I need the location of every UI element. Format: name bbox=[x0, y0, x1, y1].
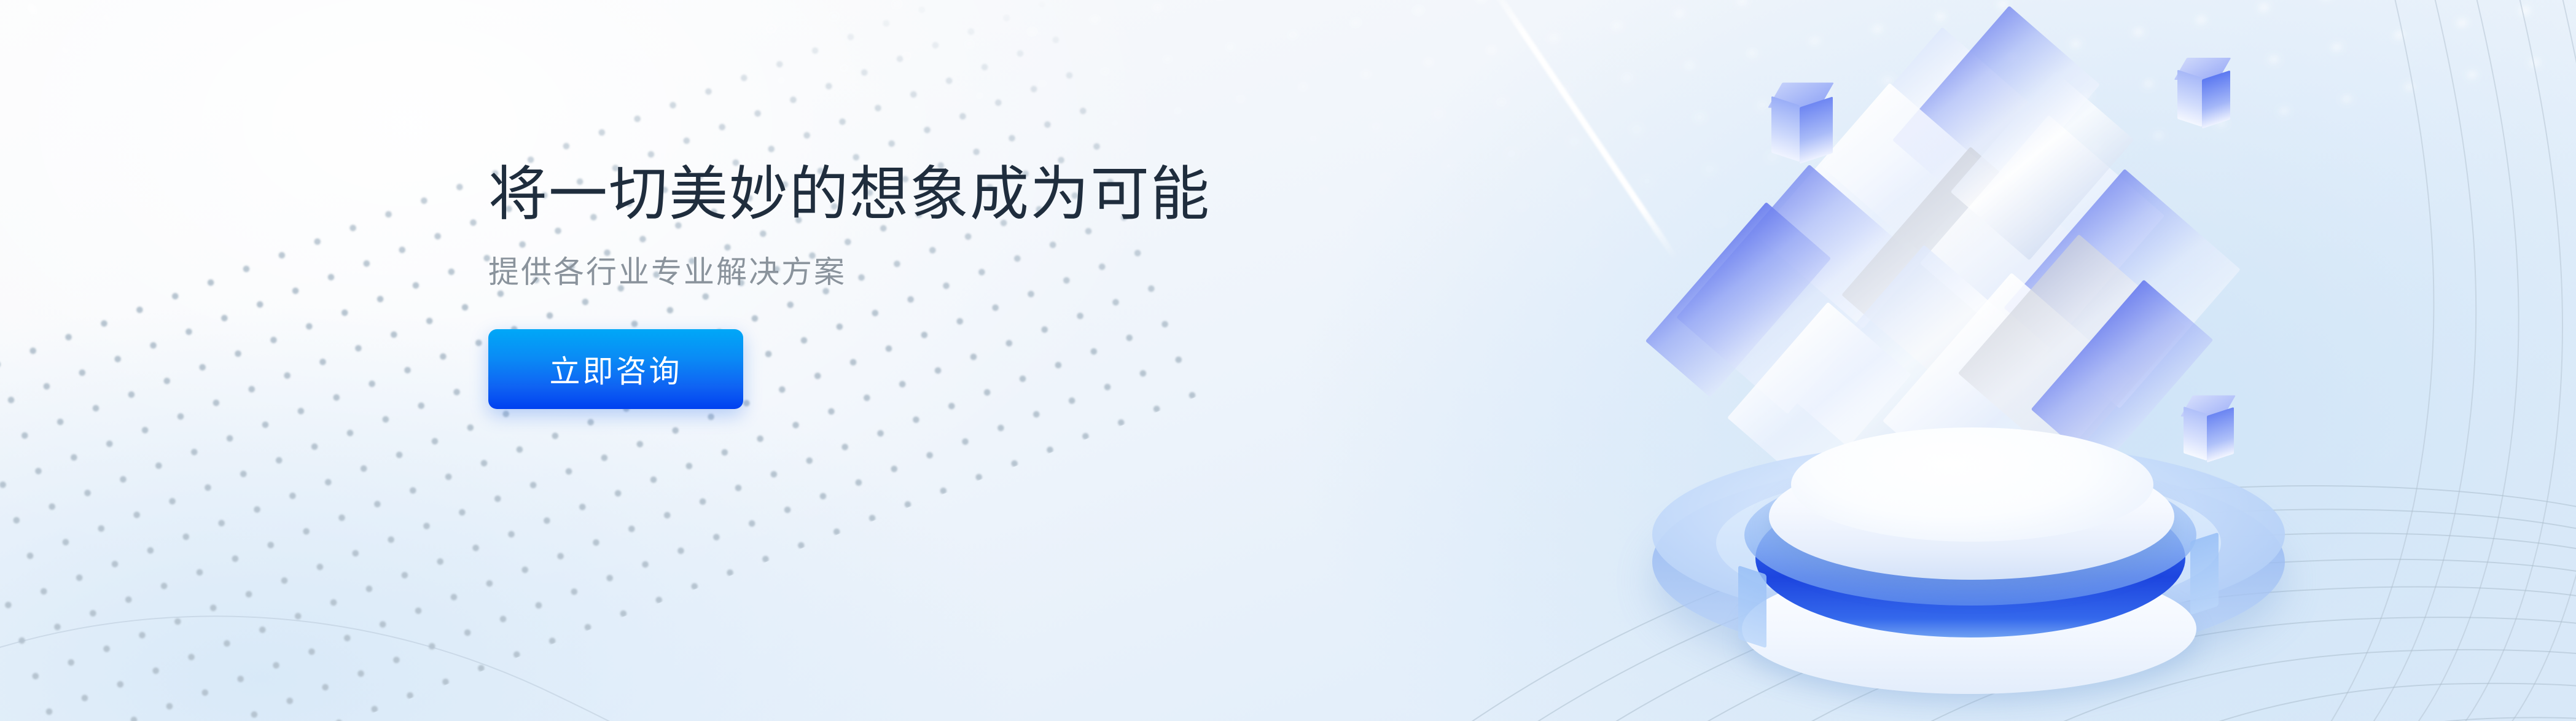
hero-copy: 将一切美妙的想象成为可能 提供各行业专业解决方案 立即咨询 bbox=[488, 158, 1532, 409]
podium-notch-left bbox=[1738, 566, 1766, 649]
hero-illustration bbox=[1622, 12, 2316, 694]
podium-top-disc bbox=[1791, 427, 2153, 542]
page-subtitle: 提供各行业专业解决方案 bbox=[488, 252, 1532, 292]
consult-now-button[interactable]: 立即咨询 bbox=[488, 329, 743, 409]
page-title: 将一切美妙的想象成为可能 bbox=[488, 158, 1532, 230]
hero-banner: 将一切美妙的想象成为可能 提供各行业专业解决方案 立即咨询 bbox=[0, 0, 2576, 721]
glass-podium bbox=[1652, 405, 2291, 694]
podium-notch-right bbox=[2190, 532, 2219, 615]
